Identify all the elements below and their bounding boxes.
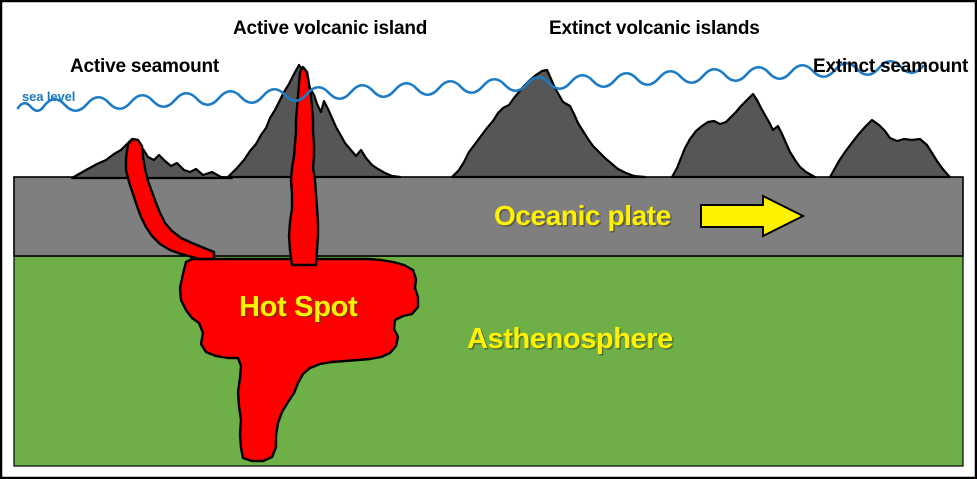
- label-extinct-volcanic-islands: Extinct volcanic islands: [549, 18, 760, 40]
- hotspot-diagram: Active seamount Active volcanic island E…: [0, 0, 977, 479]
- label-active-volcanic-island: Active volcanic island: [233, 18, 427, 40]
- label-asthenosphere: Asthenosphere: [467, 323, 673, 356]
- asthenosphere-layer: [14, 256, 963, 466]
- label-active-seamount: Active seamount: [70, 56, 219, 78]
- label-hot-spot: Hot Spot: [239, 291, 357, 324]
- label-oceanic-plate: Oceanic plate: [494, 200, 671, 232]
- label-extinct-seamount: Extinct seamount: [813, 56, 968, 78]
- label-sea-level: sea level: [22, 89, 75, 104]
